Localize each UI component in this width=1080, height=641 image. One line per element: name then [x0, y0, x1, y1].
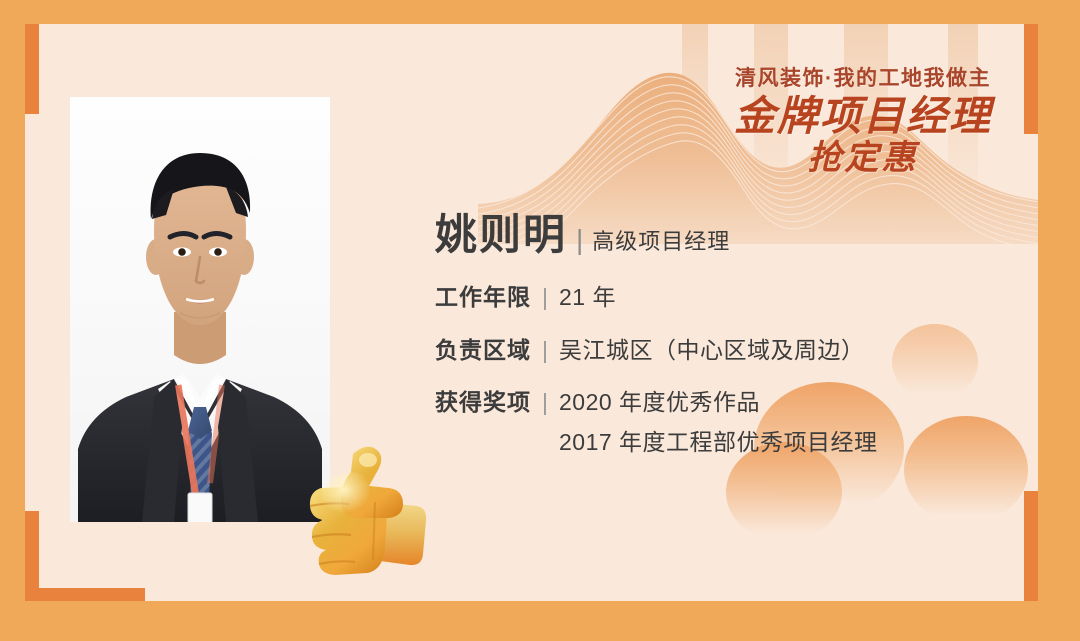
profile-name: 姚则明	[435, 214, 567, 256]
soft-bar-2	[844, 24, 888, 192]
detail-separator: |	[542, 385, 548, 420]
detail-value: 吴江城区（中心区域及周边）	[559, 333, 865, 368]
thumbs-up-icon	[293, 436, 443, 586]
detail-label: 获得奖项	[435, 385, 531, 420]
frame-edge-bottom	[0, 601, 1080, 641]
detail-value: 21 年	[559, 280, 616, 315]
soft-bar-1	[754, 24, 788, 220]
detail-value: 2020 年度优秀作品 2017 年度工程部优秀项目经理	[559, 385, 878, 459]
corner-bracket-top-left	[25, 24, 39, 114]
poster-card: 清风装饰·我的工地我做主 金牌项目经理 抢定惠	[25, 24, 1038, 601]
profile-title: 高级项目经理	[592, 224, 730, 256]
corner-bracket-bottom-left-horizontal	[25, 588, 145, 601]
profile-info-panel: 姚则明 | 高级项目经理 工作年限 | 21 年 负责区域 | 吴江城区（中心区…	[435, 214, 980, 477]
soft-bar-4	[948, 24, 978, 206]
detail-row-awards: 获得奖项 | 2020 年度优秀作品 2017 年度工程部优秀项目经理	[435, 385, 980, 459]
detail-label: 负责区域	[435, 333, 531, 368]
frame-edge-right	[1038, 0, 1080, 641]
detail-label: 工作年限	[435, 280, 531, 315]
detail-separator: |	[542, 280, 548, 315]
poster-root: 清风装饰·我的工地我做主 金牌项目经理 抢定惠	[0, 0, 1080, 641]
profile-name-row: 姚则明 | 高级项目经理	[435, 214, 980, 256]
frame-edge-left	[0, 0, 25, 641]
corner-bracket-top-right	[1024, 24, 1038, 134]
detail-row-work-years: 工作年限 | 21 年	[435, 280, 980, 315]
portrait-photo	[70, 97, 330, 522]
soft-bar-3	[682, 24, 708, 174]
detail-row-region: 负责区域 | 吴江城区（中心区域及周边）	[435, 333, 980, 368]
award-line-2: 2017 年度工程部优秀项目经理	[559, 425, 878, 460]
name-separator: |	[576, 224, 583, 256]
award-line-1: 2020 年度优秀作品	[559, 385, 878, 420]
corner-bracket-bottom-right	[1024, 491, 1038, 601]
detail-separator: |	[542, 333, 548, 368]
frame-edge-top	[0, 0, 1080, 24]
